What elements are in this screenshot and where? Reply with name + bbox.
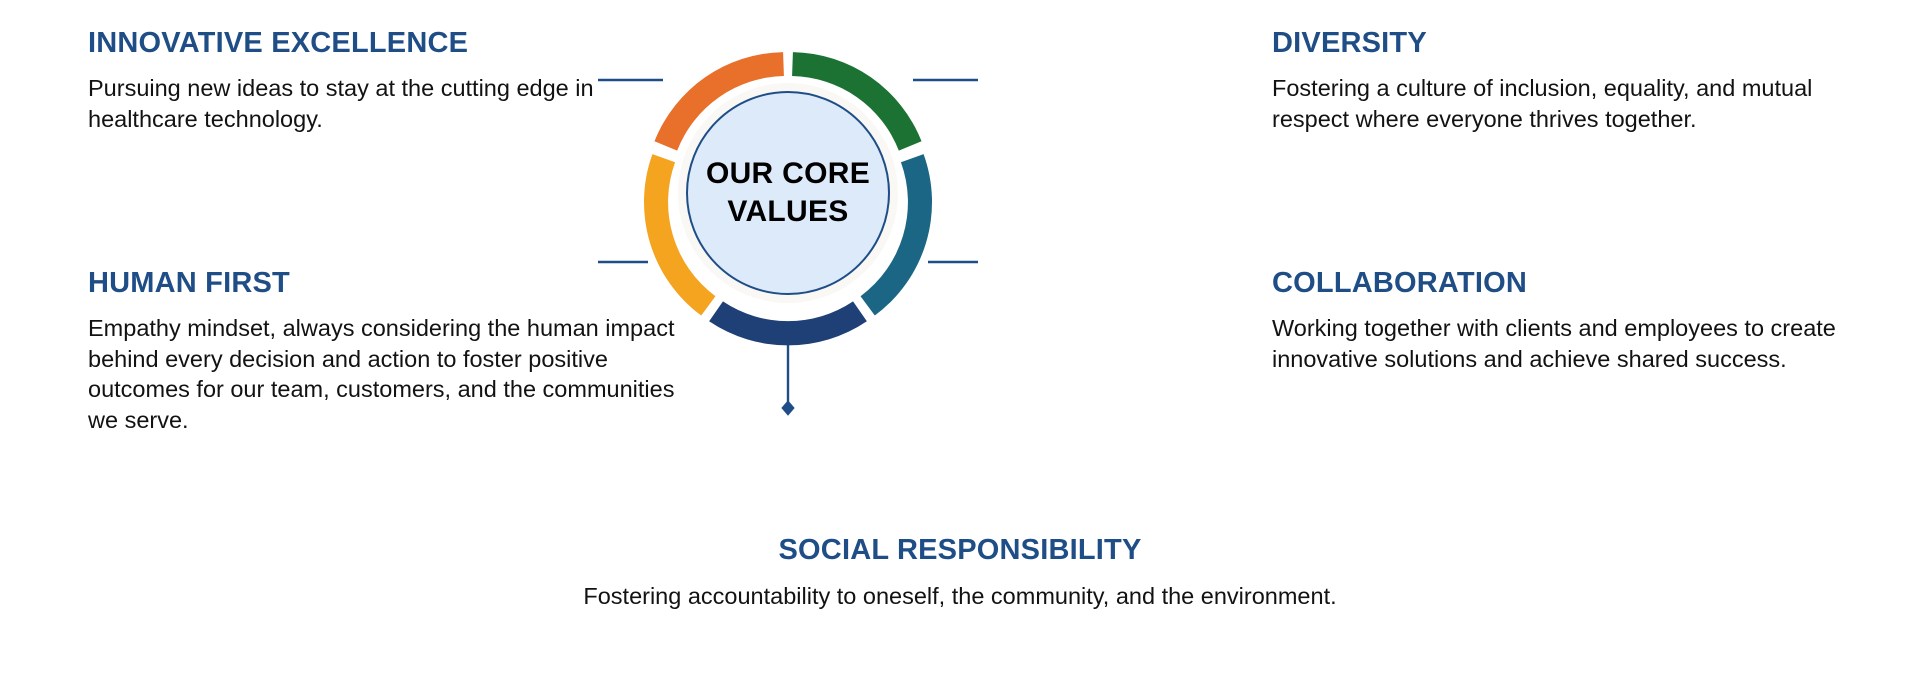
value-block-collaboration: COLLABORATION Working together with clie… (1272, 268, 1912, 374)
value-body-human-first: Empathy mindset, always considering the … (88, 313, 678, 436)
donut-segment-social-responsibility (709, 301, 867, 345)
connector-diamond-social-responsibility (782, 401, 794, 415)
value-heading-innovative-excellence: INNOVATIVE EXCELLENCE (88, 28, 678, 60)
value-block-diversity: DIVERSITY Fostering a culture of inclusi… (1272, 28, 1892, 134)
value-body-innovative-excellence: Pursuing new ideas to stay at the cuttin… (88, 73, 678, 135)
value-block-social-responsibility: SOCIAL RESPONSIBILITY Fostering accounta… (560, 535, 1360, 612)
donut-hub (687, 92, 889, 294)
core-values-donut-chart: OUR CORE VALUES (598, 0, 978, 512)
value-heading-diversity: DIVERSITY (1272, 28, 1892, 60)
infographic-canvas: INNOVATIVE EXCELLENCE Pursuing new ideas… (0, 0, 1920, 700)
value-heading-human-first: HUMAN FIRST (88, 268, 678, 300)
value-block-human-first: HUMAN FIRST Empathy mindset, always cons… (88, 268, 678, 436)
value-body-diversity: Fostering a culture of inclusion, equali… (1272, 73, 1892, 135)
value-heading-collaboration: COLLABORATION (1272, 268, 1912, 300)
value-heading-social-responsibility: SOCIAL RESPONSIBILITY (560, 535, 1360, 567)
value-body-collaboration: Working together with clients and employ… (1272, 313, 1912, 375)
value-block-innovative-excellence: INNOVATIVE EXCELLENCE Pursuing new ideas… (88, 28, 678, 134)
value-body-social-responsibility: Fostering accountability to oneself, the… (560, 581, 1360, 612)
